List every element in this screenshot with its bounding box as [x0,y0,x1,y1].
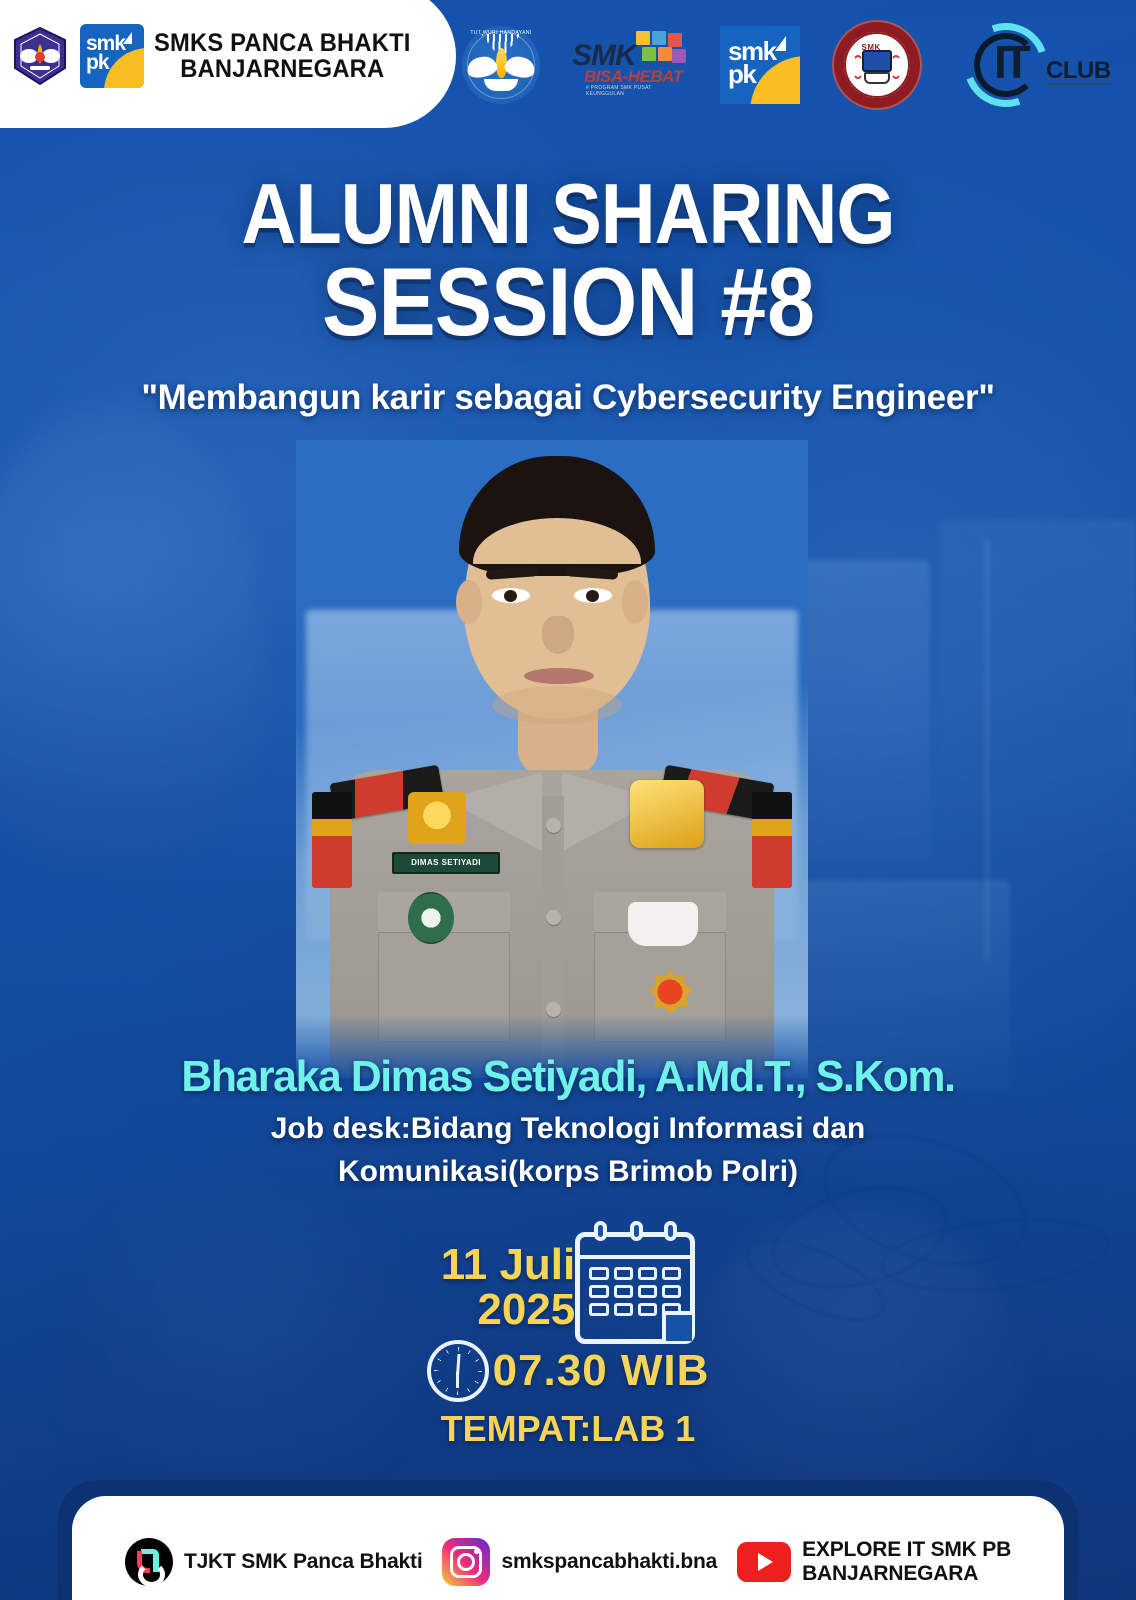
tut-wuri-handayani-logo-icon: TUT WURI HANDAYANI [462,26,540,104]
speaker-jobdesk: Job desk:Bidang Teknologi Informasi dan … [0,1108,1136,1193]
bisa-tiny-text: # PROGRAM SMK PUSAT KEUNGGULAN [586,85,688,97]
event-date-line2: 2025 [441,1288,576,1333]
itclub-it-text: IT [994,35,1027,89]
youtube-handle-line1: EXPLORE IT SMK PB [802,1538,1011,1562]
speaker-jobdesk-line2: Komunikasi(korps Brimob Polri) [0,1151,1136,1194]
social-item-tiktok[interactable]: TJKT SMK Panca Bhakti [125,1538,423,1586]
youtube-handle-line2: BANJARNEGARA [802,1562,1011,1586]
event-date-line1: 11 Juli [441,1243,576,1288]
social-item-instagram[interactable]: smkspancabhakti.bna [442,1538,717,1586]
instagram-icon[interactable] [442,1538,490,1586]
tiktok-handle: TJKT SMK Panca Bhakti [184,1550,423,1574]
event-place: TEMPAT:LAB 1 [0,1408,1136,1450]
speaker-jobdesk-line1: Job desk:Bidang Teknologi Informasi dan [0,1108,1136,1151]
header-school-banner: smkpk SMKS PANCA BHAKTI BANJARNEGARA [0,0,456,128]
event-time: 07.30 WIB [493,1346,710,1396]
clock-icon [427,1340,489,1402]
it-club-logo-icon: IT CLUB [954,17,1114,113]
school-name-line1: SMKS PANCA BHAKTI [154,30,411,57]
uniform-nametag: DIMAS SETIYADI [392,852,500,874]
event-date: 11 Juli 2025 [441,1243,576,1333]
youtube-icon[interactable] [737,1542,791,1582]
title-line-1: ALUMNI SHARING [0,176,1136,255]
title-line-2: SESSION #8 [0,259,1136,349]
school-name-line2: BANJARNEGARA [154,56,411,83]
calendar-icon [575,1232,695,1344]
smk-pb-seal-logo-icon: SMK PB [832,20,922,110]
speaker-photo: DIMAS SETIYADI [296,440,808,1078]
bisa-subtext: BISA-HEBAT [584,67,683,87]
smk-pk-logo-2-icon: smkpk [720,26,800,104]
smkpk-text-line2: pk [86,51,109,74]
partner-logo-strip: TUT WURI HANDAYANI SMK BISA-HEBAT # PROG… [458,6,1118,124]
instagram-handle: smkspancabhakti.bna [501,1550,717,1574]
social-item-youtube[interactable]: EXPLORE IT SMK PB BANJARNEGARA [737,1538,1011,1586]
poster-title: ALUMNI SHARING SESSION #8 [0,176,1136,339]
smkpk2-line2: pk [728,59,755,89]
poster-subtitle: "Membangun karir sebagai Cybersecurity E… [0,378,1136,418]
itclub-club-text: CLUB [1046,57,1111,85]
speaker-name: Bharaka Dimas Setiyadi, A.Md.T., S.Kom. [17,1052,1119,1102]
school-name: SMKS PANCA BHAKTI BANJARNEGARA [154,30,411,83]
smk-pk-logo-icon: smkpk [80,24,144,88]
youtube-handle: EXPLORE IT SMK PB BANJARNEGARA [802,1538,1011,1586]
uniform-nametag-text: DIMAS SETIYADI [394,854,498,872]
event-poster: smkpk SMKS PANCA BHAKTI BANJARNEGARA TUT… [0,0,1136,1600]
smk-bisa-hebat-logo-icon: SMK BISA-HEBAT # PROGRAM SMK PUSAT KEUNG… [572,29,688,101]
event-details: 11 Juli 2025 07.30 WIB TEMPAT:LAB 1 [0,1232,1136,1450]
footer-social-bar: TJKT SMK Panca Bhakti smkspancabhakti.bn… [72,1496,1064,1600]
tiktok-icon[interactable] [125,1538,173,1586]
smks-panca-bhakti-crest-icon [10,26,70,86]
